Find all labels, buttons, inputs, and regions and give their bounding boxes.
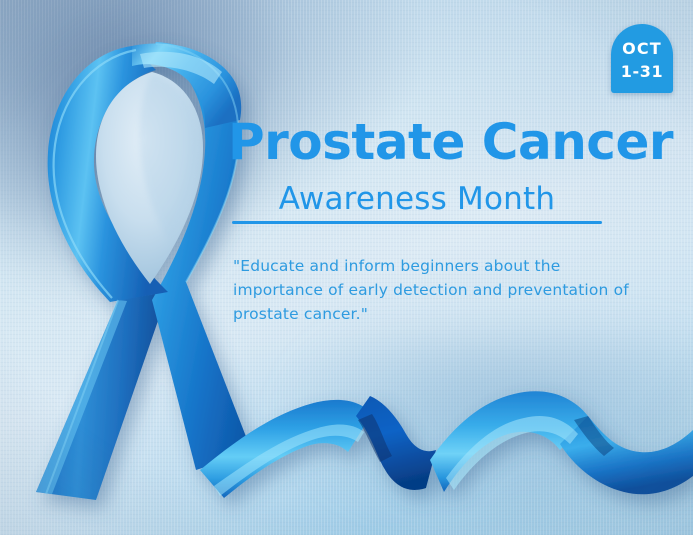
poster-quote: "Educate and inform beginners about the … bbox=[233, 254, 653, 326]
date-badge-month: OCT bbox=[622, 41, 662, 57]
poster-subtitle: Awareness Month bbox=[279, 183, 555, 220]
date-badge-days: 1-31 bbox=[621, 64, 663, 80]
date-badge[interactable]: OCT 1-31 bbox=[611, 24, 673, 93]
poster-canvas: OCT 1-31 Prostate Cancer Awareness Month… bbox=[0, 0, 693, 535]
subtitle-underline bbox=[232, 221, 602, 224]
poster-subtitle-wrap: Awareness Month bbox=[232, 183, 602, 224]
poster-title: Prostate Cancer bbox=[228, 117, 690, 168]
